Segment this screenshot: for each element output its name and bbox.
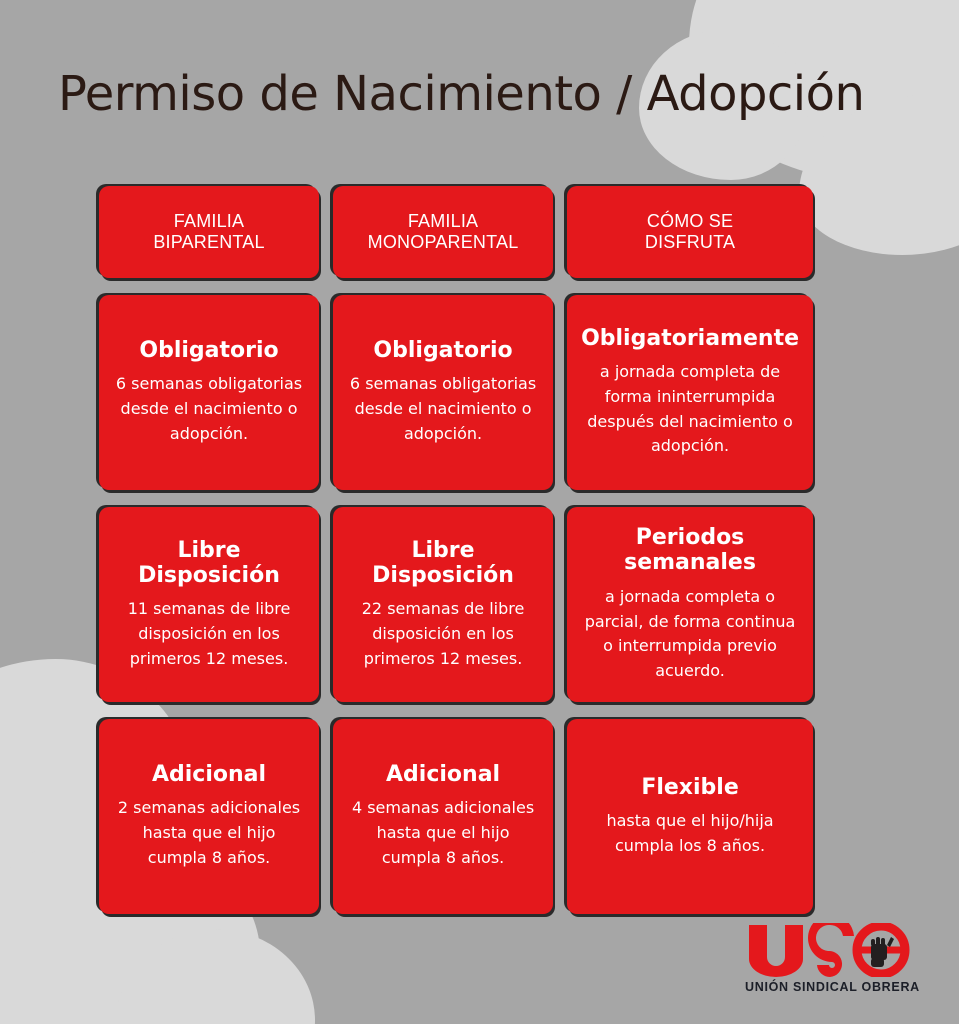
card-text: hasta que el hijo/hija cumpla los 8 años… xyxy=(581,809,799,859)
card-periodos-semanales-disfrute: Periodos semanales a jornada completa o … xyxy=(567,507,813,702)
uso-wordmark-icon xyxy=(745,923,911,977)
card-title: Obligatoriamente xyxy=(581,326,799,351)
infographic-poster: Permiso de Nacimiento / Adopción FAMILIA… xyxy=(0,0,959,1024)
card-text: 4 semanas adicionales hasta que el hijo … xyxy=(347,796,539,870)
card-libre-disposicion-biparental: Libre Disposición 11 semanas de libre di… xyxy=(99,507,319,702)
decorative-blob-bottom-left-3 xyxy=(115,929,315,1024)
card-text: a jornada completa o parcial, de forma c… xyxy=(581,585,799,684)
card-text: 22 semanas de libre disposición en los p… xyxy=(347,597,539,671)
card-text: 6 semanas obligatorias desde el nacimien… xyxy=(113,372,305,446)
column-header-line-2: BIPARENTAL xyxy=(153,232,264,252)
page-title: Permiso de Nacimiento / Adopción xyxy=(58,66,864,122)
card-obligatorio-monoparental: Obligatorio 6 semanas obligatorias desde… xyxy=(333,295,553,490)
card-libre-disposicion-monoparental: Libre Disposición 22 semanas de libre di… xyxy=(333,507,553,702)
uso-logo: UNIÓN SINDICAL OBRERA xyxy=(745,923,911,994)
card-obligatoriamente-disfrute: Obligatoriamente a jornada completa de f… xyxy=(567,295,813,490)
card-flexible-disfrute: Flexible hasta que el hijo/hija cumpla l… xyxy=(567,719,813,914)
card-title: Libre Disposición xyxy=(113,538,305,589)
card-text: a jornada completa de forma ininterrumpi… xyxy=(581,360,799,459)
card-text: 2 semanas adicionales hasta que el hijo … xyxy=(113,796,305,870)
column-header-familia-monoparental: FAMILIA MONOPARENTAL xyxy=(333,186,553,278)
card-adicional-monoparental: Adicional 4 semanas adicionales hasta qu… xyxy=(333,719,553,914)
card-title: Libre Disposición xyxy=(347,538,539,589)
card-title: Adicional xyxy=(386,762,500,787)
comparison-grid: FAMILIA BIPARENTAL FAMILIA MONOPARENTAL … xyxy=(99,186,813,914)
column-header-como-se-disfruta: CÓMO SE DISFRUTA xyxy=(567,186,813,278)
card-obligatorio-biparental: Obligatorio 6 semanas obligatorias desde… xyxy=(99,295,319,490)
column-header-familia-biparental: FAMILIA BIPARENTAL xyxy=(99,186,319,278)
uso-logo-caption: UNIÓN SINDICAL OBRERA xyxy=(745,980,911,994)
card-title: Obligatorio xyxy=(373,338,512,363)
column-header-label: FAMILIA BIPARENTAL xyxy=(153,211,264,253)
card-title: Flexible xyxy=(641,775,738,800)
column-header-label: FAMILIA MONOPARENTAL xyxy=(368,211,519,253)
column-header-line-2: DISFRUTA xyxy=(645,232,735,252)
column-header-line-1: FAMILIA xyxy=(174,211,244,231)
card-text: 6 semanas obligatorias desde el nacimien… xyxy=(347,372,539,446)
column-header-line-2: MONOPARENTAL xyxy=(368,232,519,252)
card-text: 11 semanas de libre disposición en los p… xyxy=(113,597,305,671)
card-title: Obligatorio xyxy=(139,338,278,363)
card-adicional-biparental: Adicional 2 semanas adicionales hasta qu… xyxy=(99,719,319,914)
card-title: Adicional xyxy=(152,762,266,787)
column-header-label: CÓMO SE DISFRUTA xyxy=(645,211,735,253)
column-header-line-1: CÓMO SE xyxy=(647,211,733,231)
card-title: Periodos semanales xyxy=(581,525,799,576)
column-header-line-1: FAMILIA xyxy=(408,211,478,231)
